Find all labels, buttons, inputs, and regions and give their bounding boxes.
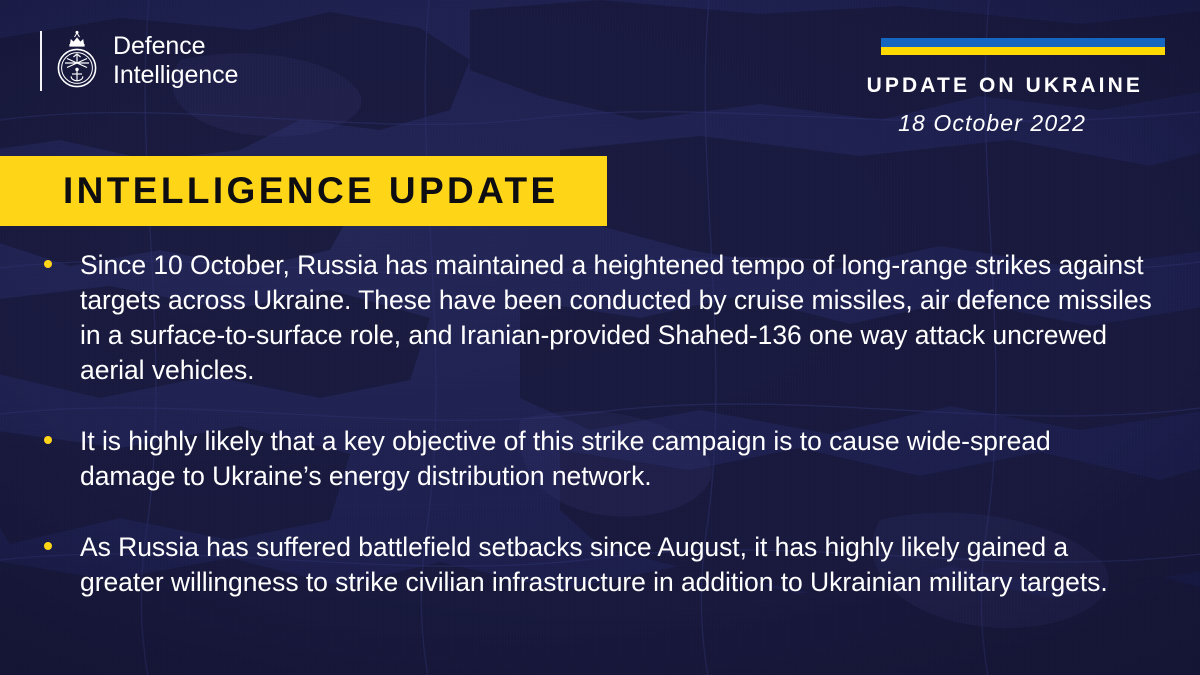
update-date: 18 October 2022 — [898, 110, 1086, 137]
ukraine-flag-bar — [881, 38, 1165, 55]
intelligence-update-poster: Defence Intelligence UPDATE ON UKRAINE 1… — [0, 0, 1200, 675]
bullet-dot-icon — [44, 260, 52, 268]
list-item: As Russia has suffered battlefield setba… — [40, 530, 1152, 600]
brand-divider — [40, 31, 42, 91]
bullet-text: It is highly likely that a key objective… — [80, 424, 1152, 494]
flag-band-blue — [881, 38, 1165, 47]
bullet-list: Since 10 October, Russia has maintained … — [40, 248, 1152, 600]
update-title: UPDATE ON UKRAINE — [867, 74, 1143, 98]
bullet-text: As Russia has suffered battlefield setba… — [80, 530, 1152, 600]
list-item: Since 10 October, Russia has maintained … — [40, 248, 1152, 388]
bullet-dot-icon — [44, 542, 52, 550]
brand-lockup: Defence Intelligence — [40, 30, 238, 92]
royal-crest-icon — [54, 30, 100, 92]
brand-name: Defence Intelligence — [113, 32, 238, 90]
list-item: It is highly likely that a key objective… — [40, 424, 1152, 494]
bullet-dot-icon — [44, 436, 52, 444]
bullet-text: Since 10 October, Russia has maintained … — [80, 248, 1152, 388]
intelligence-update-banner: INTELLIGENCE UPDATE — [0, 156, 607, 226]
banner-label: INTELLIGENCE UPDATE — [0, 170, 559, 212]
flag-band-yellow — [881, 47, 1165, 56]
